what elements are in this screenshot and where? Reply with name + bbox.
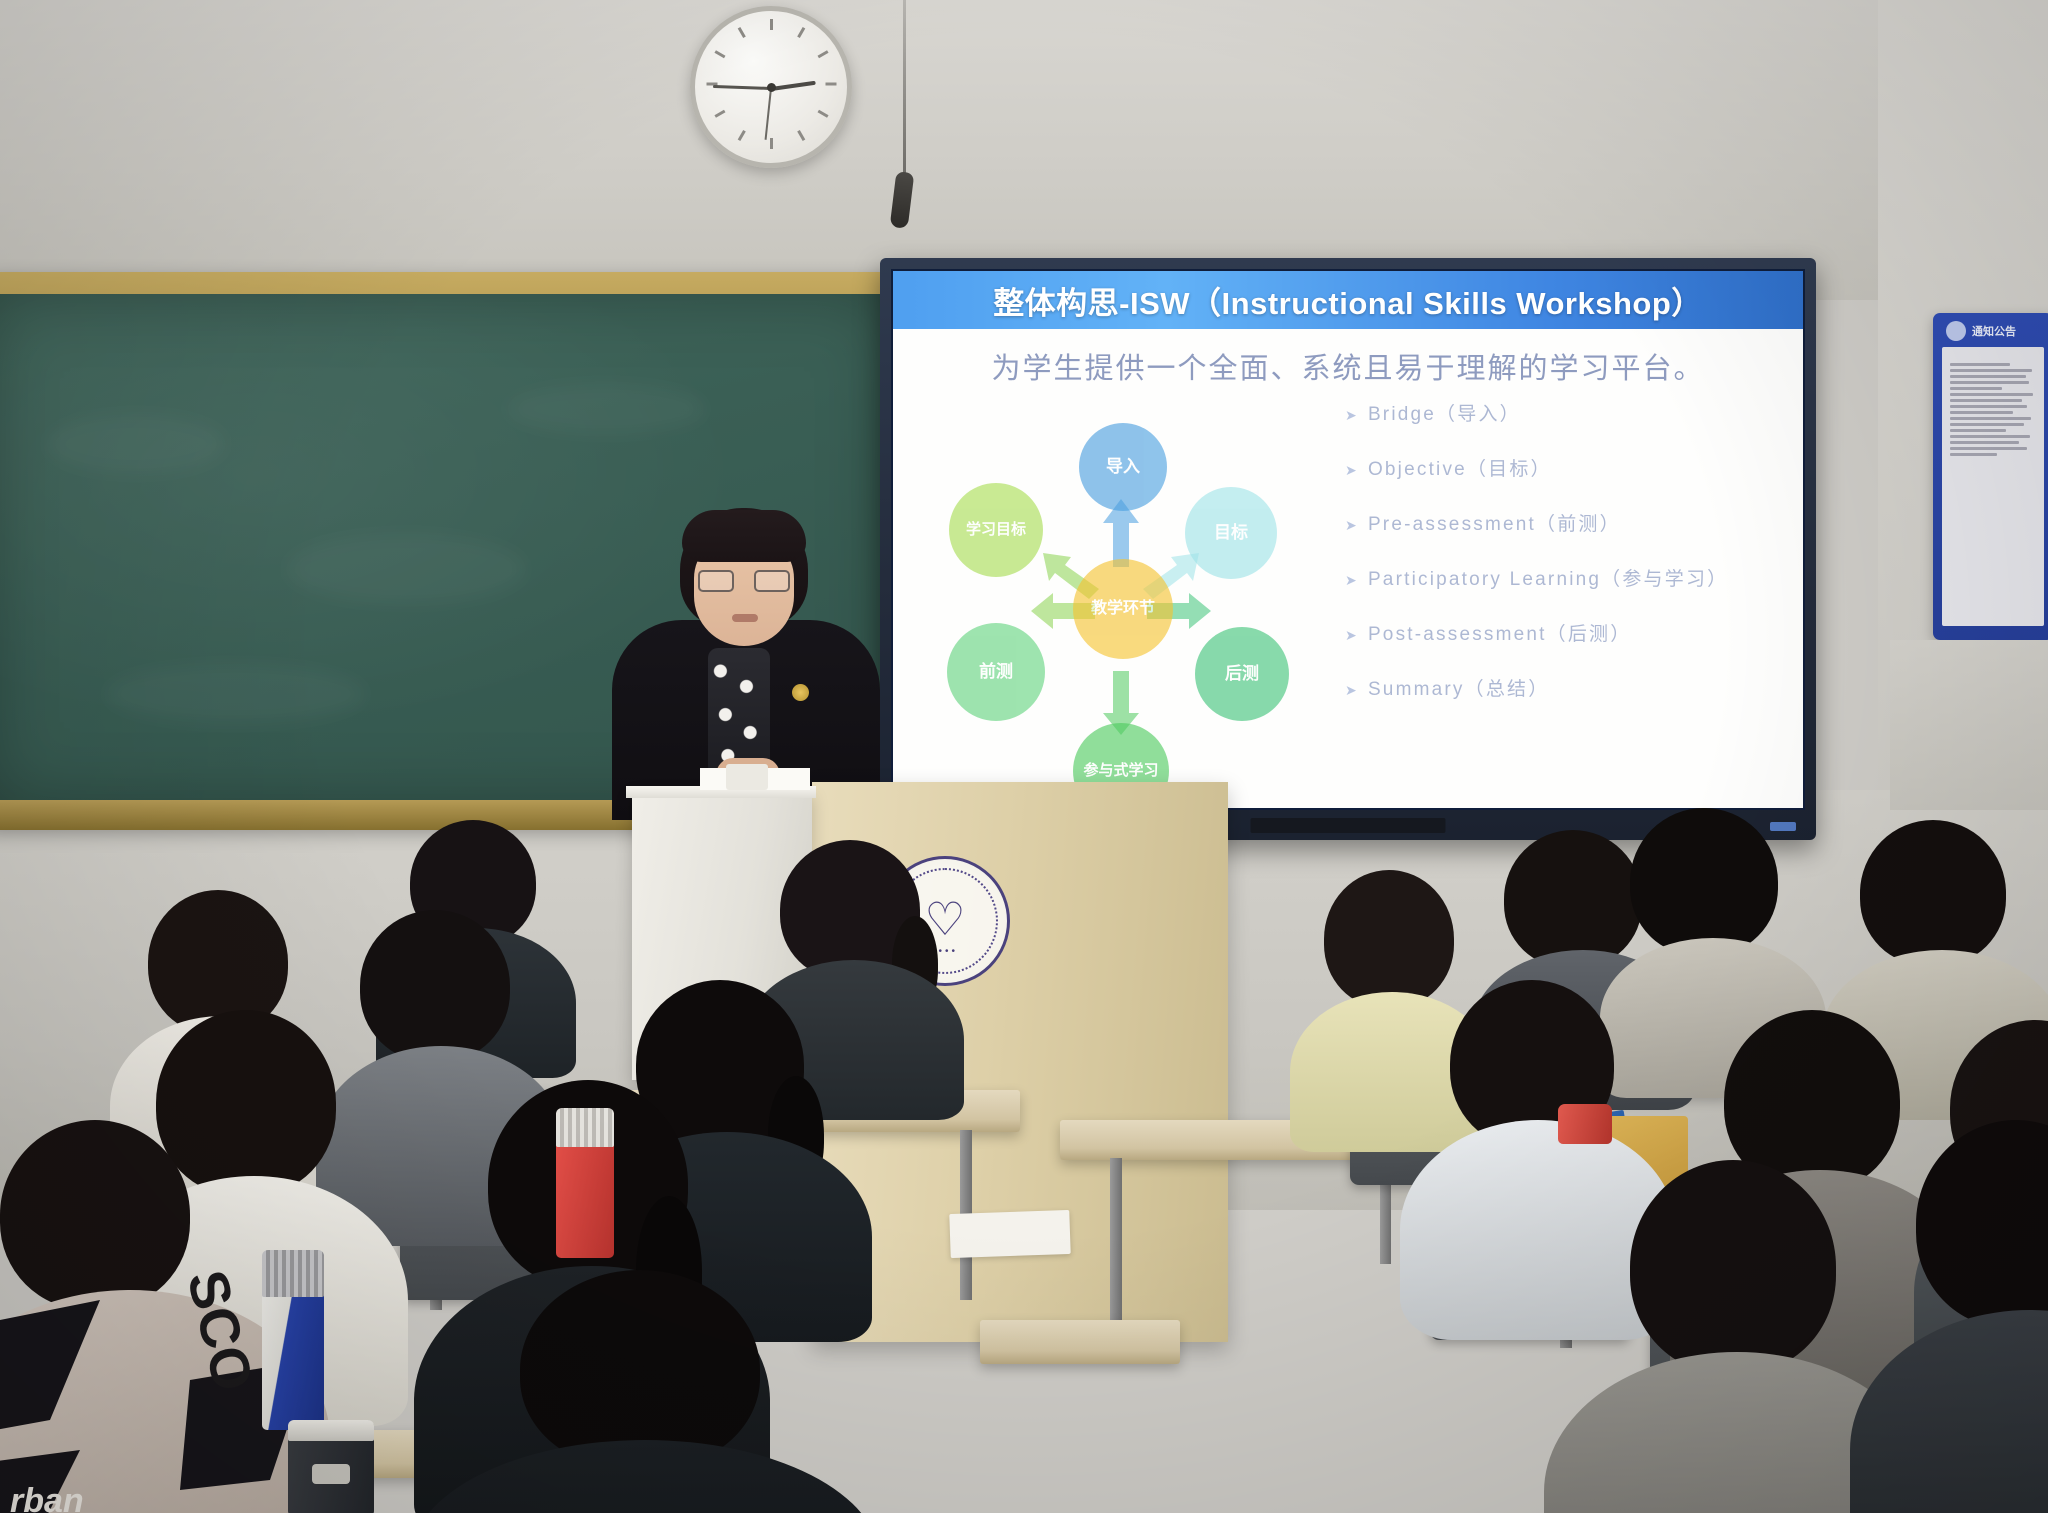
notice-sheet <box>1942 347 2044 626</box>
jacket-text-secondary: rban <box>10 1482 84 1513</box>
student-shoulders <box>1850 1310 2048 1513</box>
bullet-marker-icon: ➤ <box>1345 407 1359 424</box>
upper-wall <box>0 0 2048 300</box>
bullet-marker-icon: ➤ <box>1345 517 1359 534</box>
bullet-marker-icon: ➤ <box>1345 627 1359 644</box>
bullet-text: Bridge（导入） <box>1368 399 1521 426</box>
notice-logo-icon <box>1946 321 1966 341</box>
diagram-node-center: 教学环节 <box>1073 559 1173 659</box>
presenter-mouth <box>732 614 758 622</box>
bullet-text: Summary（总结） <box>1368 674 1550 701</box>
red-cup <box>1558 1104 1612 1144</box>
bullet-marker-icon: ➤ <box>1345 572 1359 589</box>
slide-title: 整体构思-ISW（Instructional Skills Workshop） <box>993 278 1703 323</box>
student-foreground-left: SCO rban <box>0 1120 300 1513</box>
presenter-scarf <box>708 648 770 776</box>
presentation-slide: 整体构思-ISW（Instructional Skills Workshop） … <box>893 271 1803 808</box>
student-head <box>1860 820 2006 966</box>
diagram-node-left: 前测 <box>947 623 1045 721</box>
presenter-fringe <box>682 510 806 562</box>
bullet-item: ➤ Post-assessment（后测） <box>1345 619 1805 646</box>
classroom-scene: 整体构思-ISW（Instructional Skills Workshop） … <box>0 0 2048 1513</box>
wall-clock <box>690 6 852 168</box>
student-head <box>0 1120 190 1310</box>
bullet-item: ➤ Pre-assessment（前测） <box>1345 509 1805 536</box>
notice-header-text: 通知公告 <box>1972 323 2046 339</box>
clock-hour-hand <box>771 81 816 91</box>
panel-brand-label <box>1251 818 1446 833</box>
clock-second-hand <box>765 88 772 140</box>
student-foreground-center <box>430 1270 850 1513</box>
paper-sheet <box>949 1210 1070 1258</box>
presenter-badge <box>792 684 809 701</box>
bullet-text: Pre-assessment（前测） <box>1368 509 1621 536</box>
bullet-item: ➤ Participatory Learning（参与学习） <box>1345 564 1805 591</box>
bullet-text: Post-assessment（后测） <box>1368 619 1632 646</box>
clock-center-pin <box>767 83 776 92</box>
bullet-text: Participatory Learning（参与学习） <box>1368 564 1728 591</box>
ceiling-cable <box>903 0 906 190</box>
diagram-node-right: 后测 <box>1195 627 1289 721</box>
dark-thermos-bottle <box>288 1420 374 1513</box>
blue-thermos-bottle <box>262 1250 324 1430</box>
bullet-item: ➤ Summary（总结） <box>1345 674 1805 701</box>
diagram-node-upper-right: 目标 <box>1185 487 1277 579</box>
panel-screen[interactable]: 整体构思-ISW（Instructional Skills Workshop） … <box>891 269 1805 810</box>
slide-bullet-list: ➤ Bridge（导入） ➤ Objective（目标） ➤ Pre-asses… <box>1345 399 1805 729</box>
bullet-item: ➤ Bridge（导入） <box>1345 399 1805 426</box>
right-wall-panel <box>1890 640 2048 810</box>
presenter-glasses-icon <box>698 570 790 592</box>
slide-subtitle: 为学生提供一个全面、系统且易于理解的学习平台。 <box>893 345 1803 387</box>
student-head <box>360 910 510 1062</box>
lectern-microphone <box>726 764 768 790</box>
desk <box>980 1320 1180 1364</box>
diagram-node-upper-left: 学习目标 <box>949 483 1043 577</box>
bullet-marker-icon: ➤ <box>1345 682 1359 699</box>
interactive-flat-panel[interactable]: 整体构思-ISW（Instructional Skills Workshop） … <box>880 258 1816 840</box>
cycle-diagram: 教学环节 导入 目标 学习目标 前测 <box>933 421 1313 810</box>
diagram-node-top: 导入 <box>1079 423 1167 511</box>
bullet-item: ➤ Objective（目标） <box>1345 454 1805 481</box>
student <box>1880 1120 2048 1513</box>
student-shoulders <box>410 1440 880 1513</box>
bullet-marker-icon: ➤ <box>1345 462 1359 479</box>
bullet-text: Objective（目标） <box>1368 454 1552 481</box>
slide-title-bar: 整体构思-ISW（Instructional Skills Workshop） <box>893 271 1803 329</box>
red-thermos-bottle <box>556 1108 614 1258</box>
student-head <box>1630 808 1778 956</box>
clock-minute-hand <box>713 85 771 90</box>
student-head <box>1630 1160 1836 1374</box>
wall-notice-board: 通知公告 <box>1933 313 2048 640</box>
student-head <box>1916 1120 2048 1328</box>
